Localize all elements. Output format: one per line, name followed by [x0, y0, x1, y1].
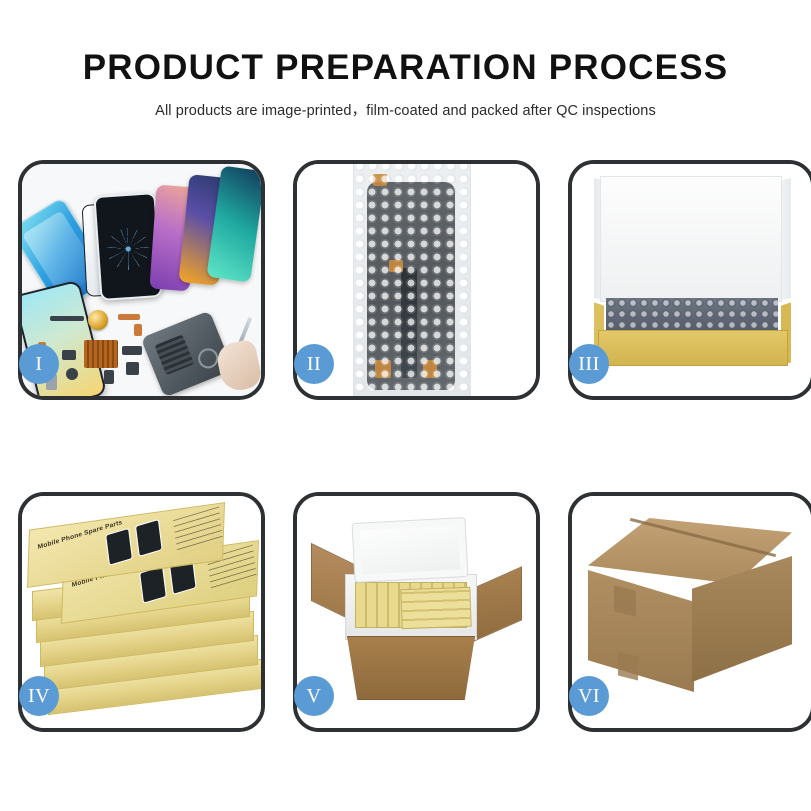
product-preparation-page: PRODUCT PREPARATION PROCESS All products… [0, 0, 811, 811]
step-badge-6: VI [569, 676, 609, 716]
chip-part-1 [50, 316, 84, 321]
step-badge-4: IV [19, 676, 59, 716]
page-subtitle: All products are image-printed，film-coat… [0, 99, 811, 120]
foam-box-lid [352, 517, 469, 583]
connector-bottom-right [423, 360, 437, 378]
thumb-screen-d [135, 519, 163, 557]
carton-tape-upper [614, 585, 636, 616]
connector-bottom-left [375, 360, 391, 378]
chip-part-2 [62, 350, 76, 360]
flex-cable-1 [118, 314, 140, 320]
kraft-box-front [598, 330, 788, 366]
carton-front-panel [347, 636, 475, 700]
process-step-card-4: Mobile Phone Spare Parts Mobile Phone Sp… [18, 492, 265, 732]
grid-chip-part [84, 340, 118, 368]
packed-retail-boxes-row-2 [400, 587, 471, 629]
step-badge-1: I [19, 344, 59, 384]
connector-mid [389, 260, 403, 272]
chip-part-4 [122, 346, 142, 355]
process-step-card-3: III [568, 160, 811, 400]
chip-part-3 [66, 368, 78, 380]
flex-cable-2 [134, 324, 142, 336]
connector-top [373, 174, 387, 186]
process-step-card-2: II [293, 160, 540, 400]
step-badge-3: III [569, 344, 609, 384]
gold-coil-part [88, 310, 108, 330]
page-header: PRODUCT PREPARATION PROCESS All products… [0, 0, 811, 120]
crack-pattern [106, 226, 151, 271]
step-badge-5: V [294, 676, 334, 716]
process-step-card-5: V [293, 492, 540, 732]
step-badge-2: II [294, 344, 334, 384]
chip-part-6 [104, 370, 114, 384]
thumb-screen-c [105, 528, 133, 566]
carton-left-face [588, 570, 694, 692]
process-step-card-1: I [18, 160, 265, 400]
box-lid-back-panel [600, 176, 782, 302]
chip-part-5 [126, 362, 139, 375]
page-title: PRODUCT PREPARATION PROCESS [0, 50, 811, 85]
carton-tape-lower [618, 652, 638, 681]
screen-flex-cable [401, 268, 417, 378]
bubble-wrapped-contents [606, 298, 778, 330]
process-step-grid: I II [18, 160, 811, 732]
retail-box-spec-lines-top [173, 507, 223, 556]
process-step-card-6: VI [568, 492, 811, 732]
